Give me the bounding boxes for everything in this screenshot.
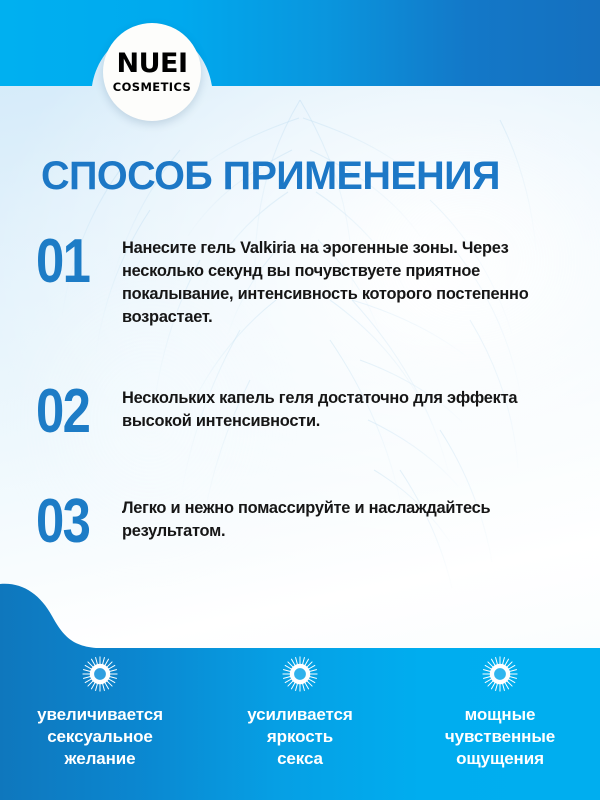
benefit-label: усиливается яркость секса bbox=[247, 704, 352, 769]
step-description: Легко и нежно помассируйте и наслаждайте… bbox=[122, 497, 600, 543]
benefit-label: увеличивается сексуальное желание bbox=[37, 704, 163, 769]
benefit-item: усиливается яркость секса bbox=[200, 655, 400, 800]
step-item: 03 Легко и нежно помассируйте и наслажда… bbox=[0, 492, 600, 552]
benefit-item: мощные чувственные ощущения bbox=[400, 655, 600, 800]
step-description: Нанесите гель Valkiria на эрогенные зоны… bbox=[122, 237, 600, 329]
page-title: СПОСОБ ПРИМЕНЕНИЯ bbox=[41, 154, 576, 199]
step-item: 02 Нескольких капель геля достаточно для… bbox=[0, 382, 600, 442]
step-number: 01 bbox=[36, 232, 107, 292]
brand-logo: NUEI COSMETICS bbox=[103, 23, 201, 121]
step-number: 02 bbox=[36, 382, 107, 442]
benefit-label: мощные чувственные ощущения bbox=[445, 704, 555, 769]
header-band bbox=[0, 0, 600, 156]
poster-canvas: NUEI COSMETICS СПОСОБ ПРИМЕНЕНИЯ 01 Нане… bbox=[0, 0, 600, 800]
header-band-shape bbox=[0, 0, 600, 86]
sunburst-icon bbox=[481, 655, 519, 693]
footer-benefits: увеличивается сексуальное желание bbox=[0, 655, 600, 800]
step-number: 03 bbox=[36, 492, 107, 552]
steps-list: 01 Нанесите гель Valkiria на эрогенные з… bbox=[0, 232, 600, 552]
step-item: 01 Нанесите гель Valkiria на эрогенные з… bbox=[0, 232, 600, 329]
benefit-item: увеличивается сексуальное желание bbox=[0, 655, 200, 800]
brand-logo-name: NUEI bbox=[116, 50, 187, 77]
sunburst-icon bbox=[281, 655, 319, 693]
brand-logo-tagline: COSMETICS bbox=[113, 82, 191, 94]
step-description: Нескольких капель геля достаточно для эф… bbox=[122, 387, 600, 433]
sunburst-icon bbox=[81, 655, 119, 693]
